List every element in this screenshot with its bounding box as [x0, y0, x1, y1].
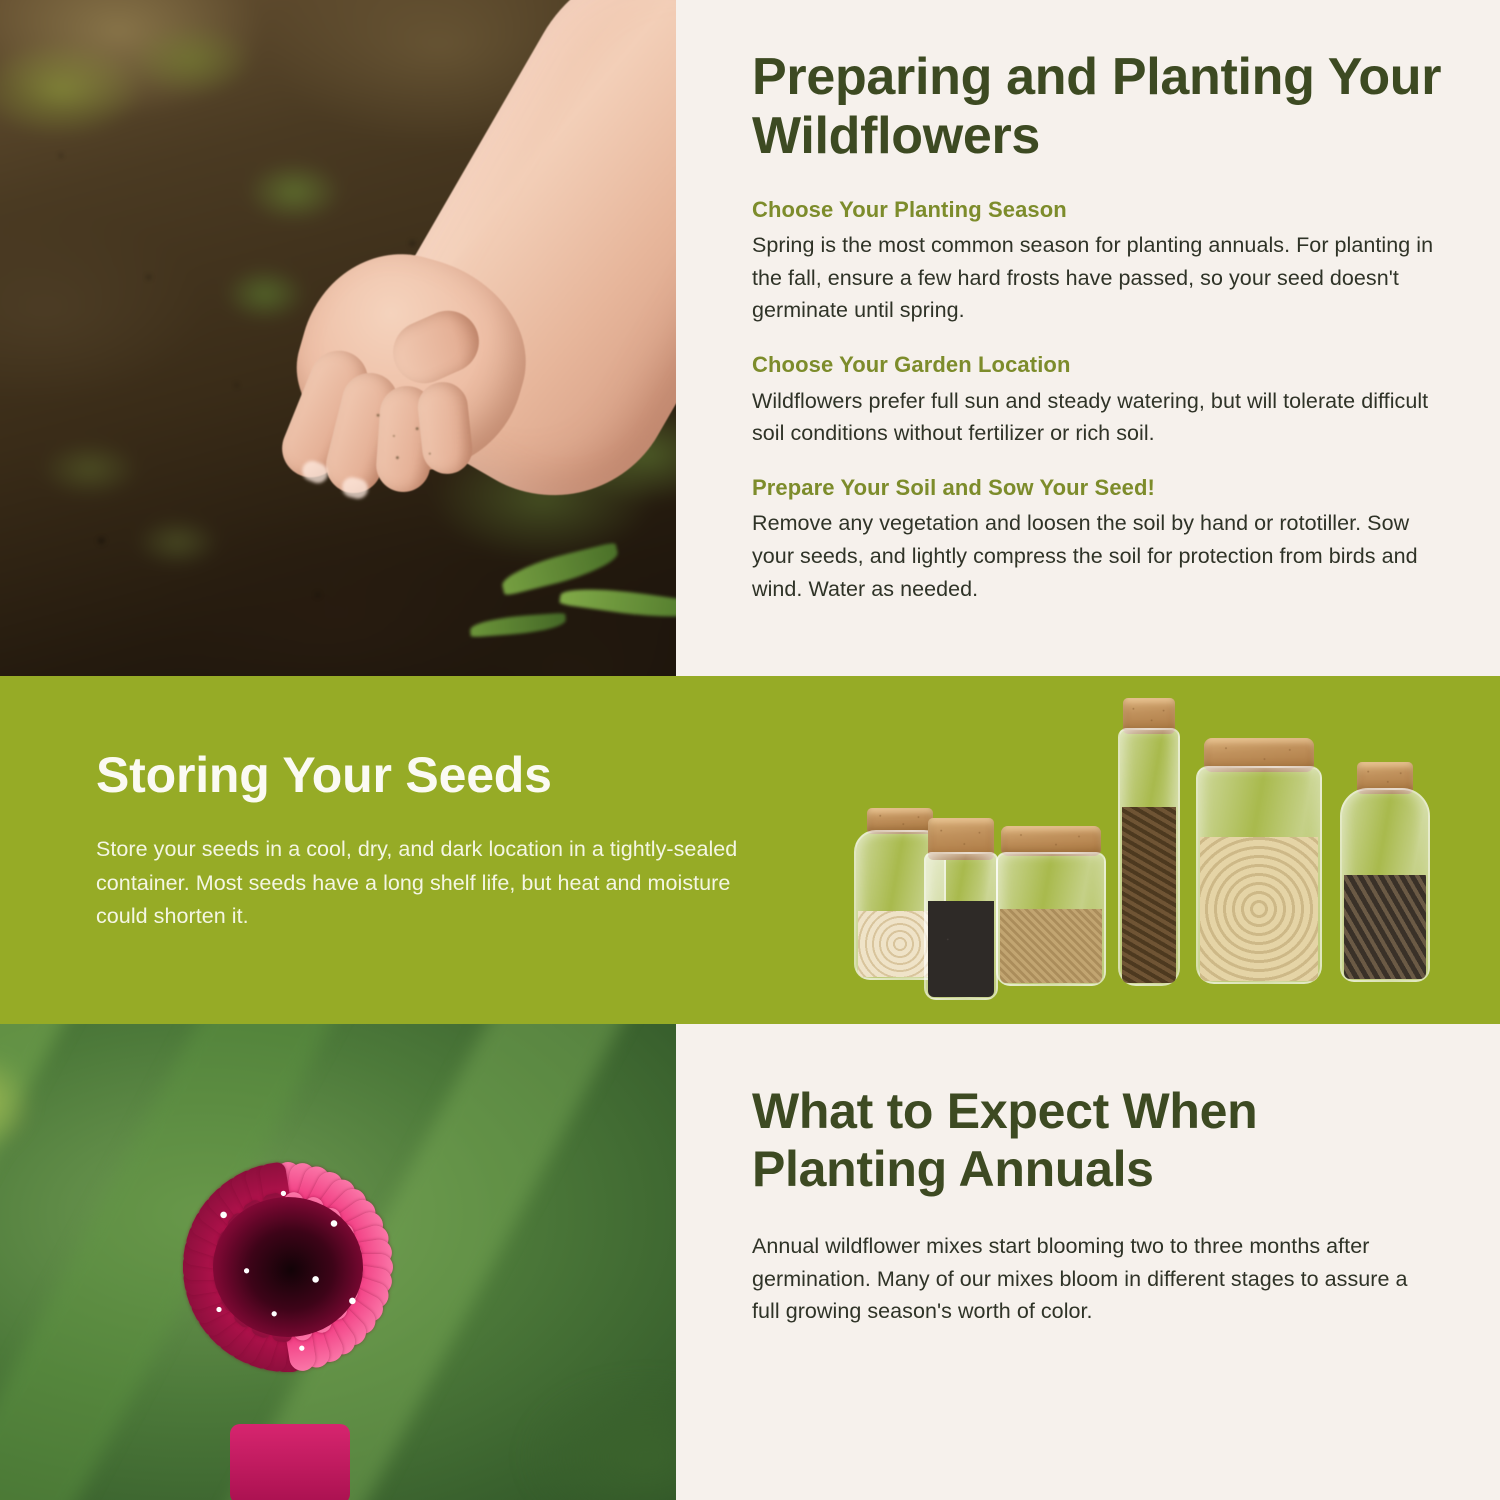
expect-body: Annual wildflower mixes start blooming t…	[752, 1230, 1438, 1328]
expect-title: What to Expect When Planting Annuals	[752, 1082, 1438, 1198]
body-planting-season: Spring is the most common season for pla…	[752, 229, 1442, 327]
body-prepare-soil: Remove any vegetation and loosen the soi…	[752, 507, 1442, 605]
heading-garden-location: Choose Your Garden Location	[752, 351, 1442, 379]
preparing-text-column: Preparing and Planting Your Wildflowers …	[684, 0, 1500, 676]
storing-title: Storing Your Seeds	[96, 748, 746, 803]
section-preparing-and-planting: Preparing and Planting Your Wildflowers …	[0, 0, 1500, 676]
jar-tall-tube	[1118, 728, 1180, 986]
jar-black-seed	[924, 852, 998, 1000]
jar-contents	[928, 901, 994, 997]
section-storing-your-seeds: Storing Your Seeds Store your seeds in a…	[0, 676, 1500, 1024]
page-title: Preparing and Planting Your Wildflowers	[752, 48, 1442, 166]
pollen-specks	[173, 1159, 403, 1374]
jar-contents	[1122, 807, 1176, 983]
expect-text-column: What to Expect When Planting Annuals Ann…	[684, 1024, 1500, 1500]
block-planting-season: Choose Your Planting Season Spring is th…	[752, 196, 1442, 328]
block-prepare-soil: Prepare Your Soil and Sow Your Seed! Rem…	[752, 474, 1442, 606]
jar-contents	[1200, 837, 1318, 981]
storing-body: Store your seeds in a cool, dry, and dar…	[96, 833, 746, 934]
jar-pumpkin-seed	[1196, 766, 1322, 984]
body-garden-location: Wildflowers prefer full sun and steady w…	[752, 385, 1442, 450]
section-what-to-expect: What to Expect When Planting Annuals Ann…	[0, 1024, 1500, 1500]
flower-bloom	[28, 1032, 548, 1500]
infographic-page: Preparing and Planting Your Wildflowers …	[0, 0, 1500, 1500]
jar-contents	[1000, 909, 1102, 983]
pink-cornflower-photo	[0, 1024, 676, 1500]
heading-prepare-soil: Prepare Your Soil and Sow Your Seed!	[752, 474, 1442, 502]
heading-planting-season: Choose Your Planting Season	[752, 196, 1442, 224]
jar-contents	[1344, 875, 1426, 979]
hand-sowing-seeds-photo	[0, 0, 676, 676]
seed-jars-illustration	[848, 692, 1468, 1008]
block-garden-location: Choose Your Garden Location Wildflowers …	[752, 351, 1442, 450]
storing-text-column: Storing Your Seeds Store your seeds in a…	[96, 748, 746, 934]
jar-sunflower-seed	[1340, 788, 1430, 982]
jar-fine-seed	[996, 852, 1106, 986]
